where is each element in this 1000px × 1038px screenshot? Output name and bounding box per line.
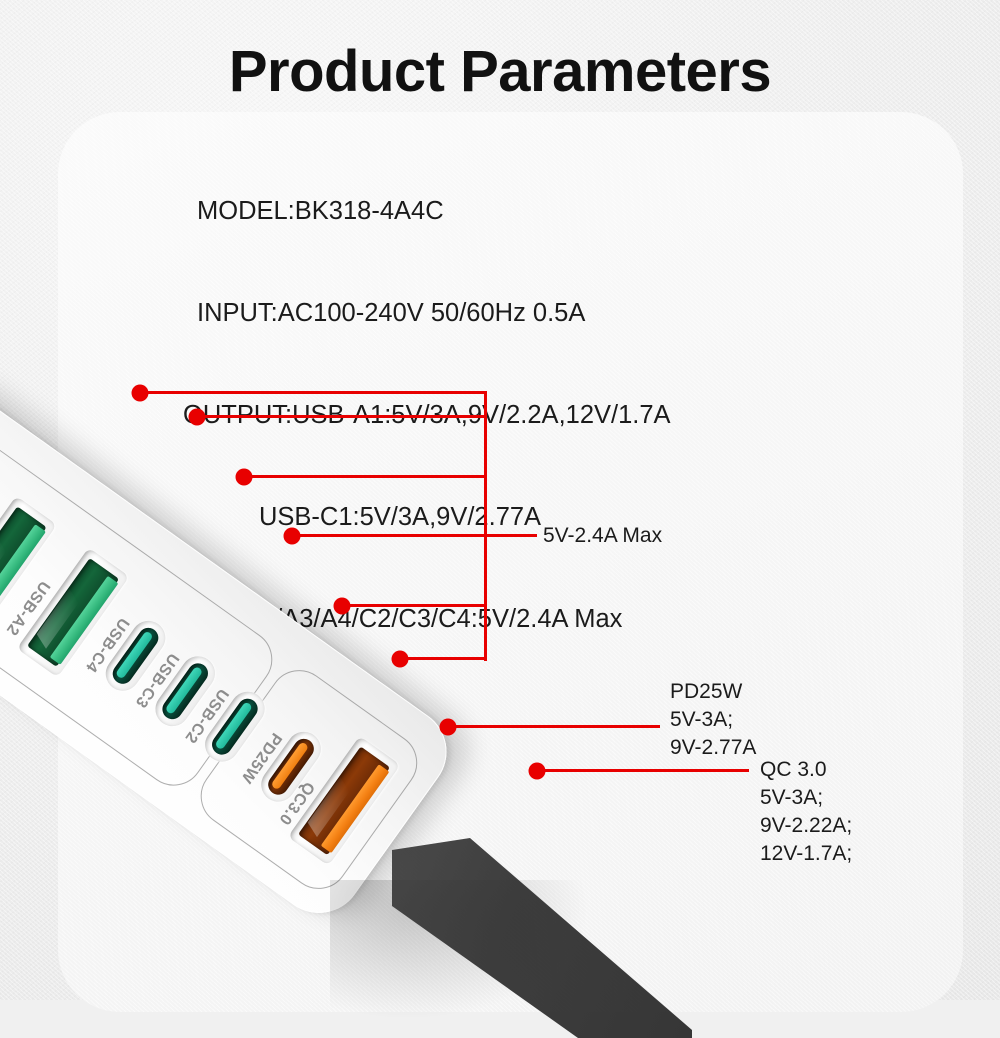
- charger-body: USB-A4 USB-A3 USB-A2 USB-C4 USB-C3 U: [0, 370, 464, 931]
- page-title: Product Parameters: [0, 42, 1000, 103]
- spec-line-model: MODEL:BK318-4A4C: [197, 194, 671, 228]
